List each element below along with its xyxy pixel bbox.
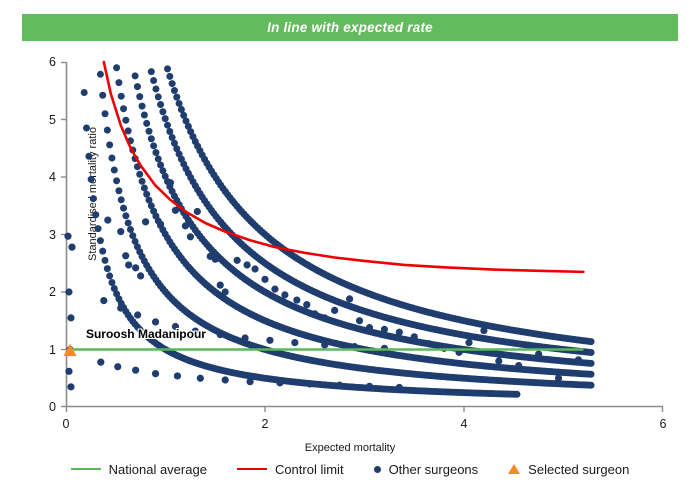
y-tick-1: 1 (32, 343, 56, 357)
surgeon-point[interactable] (411, 333, 418, 340)
surgeon-point[interactable] (588, 349, 595, 356)
surgeon-point[interactable] (134, 83, 141, 90)
surgeon-point[interactable] (266, 337, 273, 344)
selected-surgeon-label: Suroosh Madanipour (86, 327, 206, 341)
surgeon-point[interactable] (291, 339, 298, 346)
green-line-icon (71, 468, 101, 470)
surgeon-point[interactable] (137, 272, 144, 279)
surgeon-point[interactable] (396, 384, 403, 391)
surgeon-point[interactable] (174, 372, 181, 379)
surgeon-point[interactable] (125, 219, 132, 226)
surgeon-point[interactable] (141, 111, 148, 118)
surgeon-point[interactable] (346, 295, 353, 302)
surgeon-point[interactable] (104, 127, 111, 134)
x-tick-2: 2 (250, 417, 280, 431)
surgeon-point[interactable] (155, 155, 162, 162)
surgeon-point[interactable] (120, 205, 127, 212)
surgeon-point[interactable] (331, 307, 338, 314)
surgeon-point[interactable] (555, 375, 562, 382)
surgeon-density-bands (81, 64, 595, 398)
surgeon-point[interactable] (321, 314, 328, 321)
surgeon-point[interactable] (194, 208, 201, 215)
surgeon-point[interactable] (217, 282, 224, 289)
surgeon-point[interactable] (159, 108, 166, 115)
surgeon-point[interactable] (132, 367, 139, 374)
surgeon-point[interactable] (281, 291, 288, 298)
surgeon-point[interactable] (115, 79, 122, 86)
surgeon-point[interactable] (152, 318, 159, 325)
surgeon-point[interactable] (366, 324, 373, 331)
surgeon-point[interactable] (222, 288, 229, 295)
surgeon-point[interactable] (81, 89, 88, 96)
surgeon-point[interactable] (118, 93, 125, 100)
chart-legend: National average Control limit Other sur… (0, 452, 700, 486)
surgeon-point[interactable] (65, 368, 72, 375)
y-tick-5: 5 (32, 113, 56, 127)
surgeon-point[interactable] (336, 382, 343, 389)
surgeon-point[interactable] (152, 149, 159, 156)
surgeon-point[interactable] (64, 233, 71, 240)
legend-label-national-average: National average (109, 462, 207, 477)
surgeon-point[interactable] (157, 101, 164, 108)
surgeon-point[interactable] (176, 100, 183, 107)
surgeon-point[interactable] (426, 340, 433, 347)
surgeon-point[interactable] (139, 103, 146, 110)
legend-item-control-limit[interactable]: Control limit (237, 462, 344, 477)
surgeon-point[interactable] (172, 207, 179, 214)
surgeon-point[interactable] (515, 362, 522, 369)
surgeon-point[interactable] (311, 310, 318, 317)
surgeon-point[interactable] (173, 94, 180, 101)
surgeon-point[interactable] (65, 288, 72, 295)
surgeon-point[interactable] (67, 383, 74, 390)
surgeon-point[interactable] (102, 110, 109, 117)
surgeon-point[interactable] (106, 141, 113, 148)
surgeon-point[interactable] (513, 391, 520, 398)
plot-area: Suroosh Madanipour (66, 62, 663, 407)
surgeon-point[interactable] (150, 77, 157, 84)
surgeon-point[interactable] (588, 338, 595, 345)
surgeon-point[interactable] (148, 135, 155, 142)
surgeon-point[interactable] (100, 297, 107, 304)
surgeon-point[interactable] (104, 217, 111, 224)
surgeon-point[interactable] (246, 378, 253, 385)
orange-triangle-icon (508, 464, 520, 474)
surgeon-point[interactable] (134, 311, 141, 318)
surgeon-point[interactable] (120, 105, 127, 112)
surgeon-point[interactable] (99, 248, 106, 255)
surgeon-point[interactable] (271, 286, 278, 293)
surgeon-point[interactable] (495, 357, 502, 364)
surgeon-point[interactable] (306, 380, 313, 387)
surgeon-point[interactable] (321, 341, 328, 348)
surgeon-point[interactable] (588, 382, 595, 389)
funnel-plot-screenshot: In line with expected rate Standardised … (0, 0, 700, 500)
surgeon-point[interactable] (251, 265, 258, 272)
surgeon-point[interactable] (118, 196, 125, 203)
plot-svg (66, 62, 663, 407)
y-tick-0: 0 (32, 400, 56, 414)
y-tick-6: 6 (32, 55, 56, 69)
y-tick-3: 3 (32, 228, 56, 242)
surgeon-point[interactable] (152, 85, 159, 92)
surgeon-point[interactable] (68, 244, 75, 251)
surgeon-point[interactable] (83, 124, 90, 131)
surgeon-point[interactable] (535, 351, 542, 358)
surgeon-point[interactable] (164, 122, 171, 129)
surgeon-point[interactable] (588, 360, 595, 367)
surgeon-point[interactable] (217, 331, 224, 338)
surgeon-point[interactable] (97, 71, 104, 78)
surgeon-point[interactable] (108, 279, 115, 286)
surgeon-point[interactable] (356, 317, 363, 324)
surgeon-point[interactable] (104, 265, 111, 272)
surgeon-point[interactable] (465, 339, 472, 346)
surgeon-point[interactable] (122, 252, 129, 259)
surgeon-point[interactable] (136, 171, 143, 178)
surgeon-point[interactable] (150, 142, 157, 149)
surgeon-point[interactable] (117, 305, 124, 312)
surgeon-point[interactable] (166, 128, 173, 135)
surgeon-point[interactable] (143, 120, 150, 127)
surgeon-point[interactable] (242, 334, 249, 341)
y-tick-2: 2 (32, 285, 56, 299)
surgeon-point[interactable] (396, 329, 403, 336)
surgeon-point[interactable] (303, 301, 310, 308)
surgeon-point[interactable] (588, 371, 595, 378)
surgeon-point[interactable] (261, 276, 268, 283)
surgeon-point[interactable] (114, 363, 121, 370)
surgeon-point[interactable] (164, 65, 171, 72)
surgeon-point[interactable] (88, 176, 95, 183)
surgeon-point[interactable] (67, 314, 74, 321)
red-line-icon (237, 468, 267, 470)
surgeon-point[interactable] (167, 179, 174, 186)
surgeon-point[interactable] (97, 237, 104, 244)
surgeon-point[interactable] (139, 178, 146, 185)
surgeon-point[interactable] (115, 187, 122, 194)
surgeon-point[interactable] (197, 375, 204, 382)
surgeon-point[interactable] (92, 211, 99, 218)
surgeon-point[interactable] (97, 359, 104, 366)
surgeon-point[interactable] (152, 370, 159, 377)
x-tick-6: 6 (648, 417, 678, 431)
surgeon-point[interactable] (187, 233, 194, 240)
surgeon-point[interactable] (113, 177, 120, 184)
surgeon-point[interactable] (222, 376, 229, 383)
surgeon-point[interactable] (155, 93, 162, 100)
surgeon-point[interactable] (125, 127, 132, 134)
navy-dot-icon (374, 466, 381, 473)
surgeon-point[interactable] (132, 264, 139, 271)
surgeon-point[interactable] (234, 257, 241, 264)
surgeon-point[interactable] (113, 64, 120, 71)
legend-label-control-limit: Control limit (275, 462, 344, 477)
surgeon-point[interactable] (146, 128, 153, 135)
surgeon-point[interactable] (122, 117, 129, 124)
surgeon-point[interactable] (169, 80, 176, 87)
surgeon-point[interactable] (142, 218, 149, 225)
surgeon-point[interactable] (95, 225, 102, 232)
surgeon-point[interactable] (108, 155, 115, 162)
surgeon-point[interactable] (366, 383, 373, 390)
surgeon-point[interactable] (162, 115, 169, 122)
surgeon-point[interactable] (122, 212, 129, 219)
legend-label-other-surgeons: Other surgeons (389, 462, 479, 477)
surgeon-point[interactable] (141, 184, 148, 191)
surgeon-point[interactable] (127, 226, 134, 233)
surgeon-point[interactable] (480, 327, 487, 334)
surgeon-point[interactable] (125, 261, 132, 268)
surgeon-point[interactable] (212, 256, 219, 263)
surgeon-point[interactable] (148, 68, 155, 75)
surgeon-point[interactable] (243, 261, 250, 268)
x-tick-0: 0 (51, 417, 81, 431)
surgeon-point[interactable] (102, 257, 109, 264)
y-tick-4: 4 (32, 170, 56, 184)
surgeon-point[interactable] (171, 87, 178, 94)
surgeon-point[interactable] (166, 73, 173, 80)
legend-item-other-surgeons[interactable]: Other surgeons (374, 462, 479, 477)
chart-container: Standardised mortality ratio Expected mo… (0, 45, 700, 445)
surgeon-point[interactable] (136, 93, 143, 100)
surgeon-point[interactable] (117, 228, 124, 235)
surgeon-point[interactable] (132, 72, 139, 79)
surgeon-point[interactable] (575, 356, 582, 363)
surgeon-point[interactable] (293, 296, 300, 303)
surgeon-point[interactable] (182, 222, 189, 229)
status-banner: In line with expected rate (22, 14, 678, 41)
surgeon-point[interactable] (381, 326, 388, 333)
surgeon-point[interactable] (157, 221, 164, 228)
surgeon-point[interactable] (99, 92, 106, 99)
legend-item-national-average[interactable]: National average (71, 462, 207, 477)
surgeon-point[interactable] (90, 195, 97, 202)
surgeon-point[interactable] (106, 272, 113, 279)
legend-label-selected-surgeon: Selected surgeon (528, 462, 629, 477)
surgeon-point[interactable] (276, 379, 283, 386)
x-tick-4: 4 (449, 417, 479, 431)
surgeon-point[interactable] (85, 153, 92, 160)
legend-item-selected-surgeon[interactable]: Selected surgeon (508, 462, 629, 477)
surgeon-point[interactable] (111, 166, 118, 173)
